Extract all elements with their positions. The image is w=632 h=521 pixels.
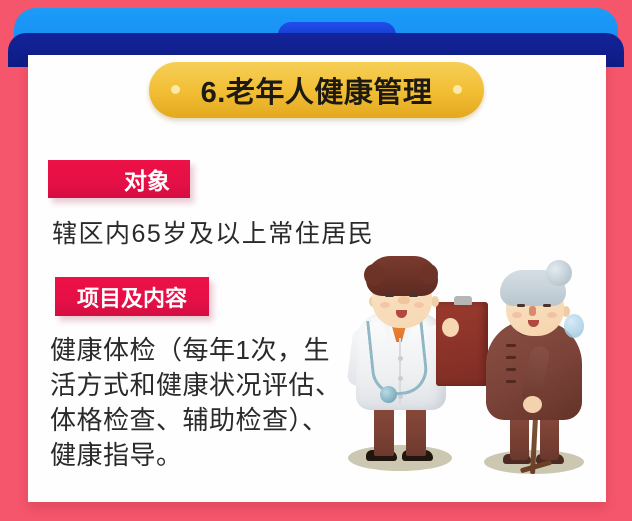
doctor-ear-right bbox=[431, 296, 439, 307]
elderly-woman-frog-button-1 bbox=[506, 344, 516, 347]
doctor-cheek-right bbox=[414, 302, 424, 308]
doctor-figure bbox=[336, 252, 466, 477]
illustration bbox=[330, 252, 600, 484]
doctor-eye-right bbox=[409, 294, 418, 297]
section-tag-object-label: 对象 bbox=[124, 162, 170, 196]
elderly-woman-frog-button-3 bbox=[506, 368, 516, 371]
section-tag-object: 对象 bbox=[48, 160, 190, 198]
elderly-woman-eye-left bbox=[517, 304, 525, 307]
doctor-shadow bbox=[348, 445, 452, 471]
elderly-woman-figure bbox=[470, 258, 596, 480]
section-body-items-line-4: 健康指导。 bbox=[50, 438, 342, 473]
elderly-woman-cheek-left bbox=[512, 312, 522, 318]
elderly-woman-frog-button-2 bbox=[506, 356, 516, 359]
badge-dot-right-icon bbox=[453, 85, 462, 94]
elderly-woman-frog-button-4 bbox=[506, 380, 516, 383]
elderly-woman-eye-right bbox=[543, 304, 551, 307]
doctor-nose bbox=[398, 296, 410, 304]
badge-dot-left-icon bbox=[171, 85, 180, 94]
stethoscope-bell-icon bbox=[380, 386, 397, 403]
section-tag-items: 项目及内容 bbox=[55, 277, 209, 316]
section-body-items-line-3: 体格检查、辅助检查）、 bbox=[50, 403, 342, 438]
doctor-cheek-left bbox=[380, 302, 390, 308]
poster-screen: 6.老年人健康管理 对象 辖区内65岁及以上常住居民 项目及内容 健康体检（每年… bbox=[0, 0, 632, 521]
elderly-woman-cheek-right bbox=[547, 312, 557, 318]
title-badge: 6.老年人健康管理 bbox=[149, 62, 484, 118]
section-body-object: 辖区内65岁及以上常住居民 bbox=[52, 214, 374, 250]
section-tag-items-label: 项目及内容 bbox=[77, 281, 187, 313]
elderly-woman-nose bbox=[529, 306, 536, 316]
section-body-items-line-1: 健康体检（每年1次，生 bbox=[50, 333, 342, 368]
elderly-woman-earring-icon bbox=[564, 314, 584, 338]
doctor-hair-curl-left bbox=[364, 264, 384, 286]
section-body-items: 健康体检（每年1次，生 活方式和健康状况评估、 体格检查、辅助检查）、 健康指导… bbox=[50, 333, 342, 473]
page-title: 6.老年人健康管理 bbox=[201, 69, 433, 111]
doctor-hair-curl-right bbox=[420, 264, 438, 284]
elderly-woman-hair-bun bbox=[546, 260, 572, 286]
section-body-items-line-2: 活方式和健康状况评估、 bbox=[50, 368, 342, 403]
doctor-hand-right bbox=[442, 318, 459, 337]
doctor-eye-left bbox=[385, 294, 394, 297]
elderly-woman-hand bbox=[523, 396, 542, 413]
